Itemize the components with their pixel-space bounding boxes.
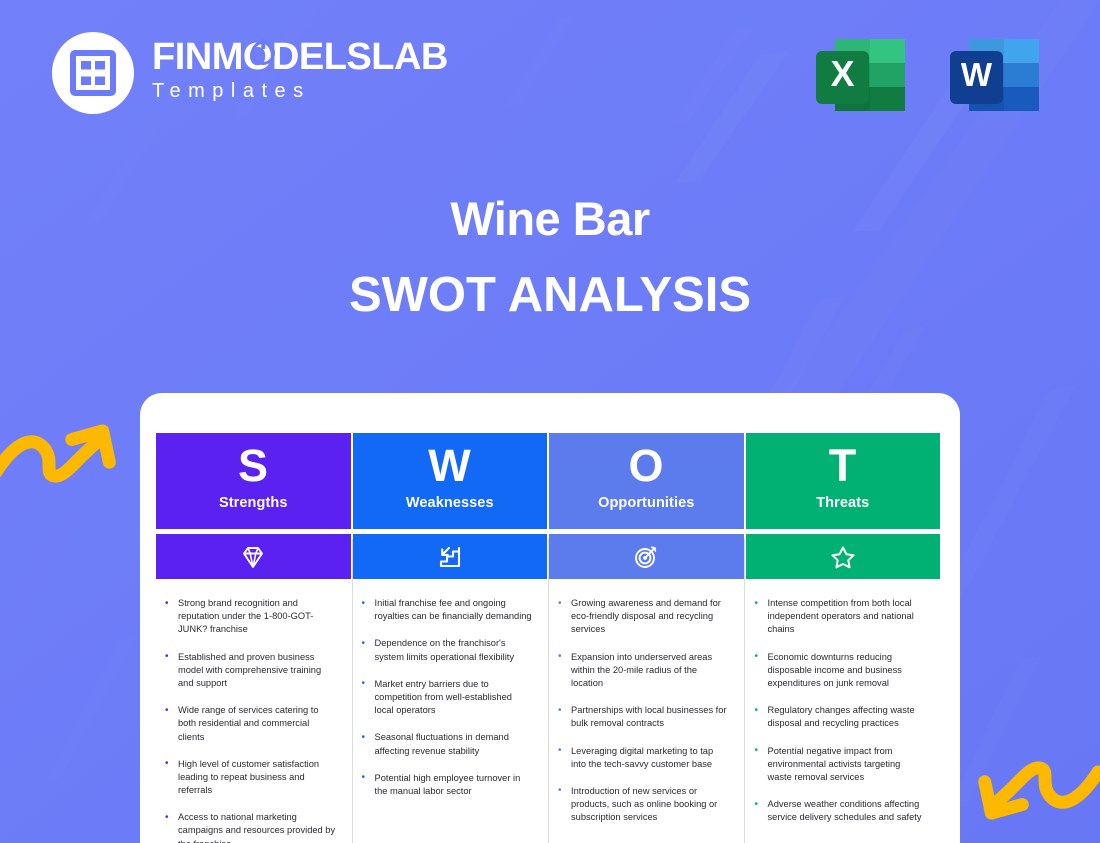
column-icon-bar-threats xyxy=(746,534,941,579)
squiggly-arrow-down-left-icon xyxy=(968,748,1100,840)
swot-grid: S Strengths Strong brand recognition and… xyxy=(156,433,940,843)
list-item: Adverse weather conditions affecting ser… xyxy=(754,798,927,824)
page-header: FINMODELSLAB Templates X W xyxy=(0,0,1100,150)
page-title: Wine Bar xyxy=(0,195,1100,242)
list-item: Potential high employee turnover in the … xyxy=(361,772,534,798)
column-header-strengths: S Strengths xyxy=(156,433,351,529)
list-item: Wide range of services catering to both … xyxy=(164,704,337,744)
svg-text:X: X xyxy=(830,53,854,94)
column-letter: O xyxy=(628,443,664,488)
column-label: Opportunities xyxy=(598,495,694,511)
target-icon xyxy=(632,543,660,571)
list-item: Market entry barriers due to competition… xyxy=(361,678,534,718)
brand-text: FINMODELSLAB Templates xyxy=(152,38,448,108)
list-item: Expansion into underserved areas within … xyxy=(557,651,730,691)
excel-icon: X xyxy=(810,22,914,126)
bullet-list-strengths: Strong brand recognition and reputation … xyxy=(164,597,337,843)
list-item: Established and proven business model wi… xyxy=(164,651,337,691)
column-label: Strengths xyxy=(219,495,288,511)
list-item: Intense competition from both local inde… xyxy=(754,597,927,637)
diamond-icon xyxy=(239,543,267,571)
title-block: Wine Bar SWOT ANALYSIS xyxy=(0,195,1100,320)
column-header-weaknesses: W Weaknesses xyxy=(353,433,548,529)
brand-logo-mark xyxy=(52,32,134,114)
swot-column-strengths: S Strengths Strong brand recognition and… xyxy=(156,433,351,843)
swot-column-opportunities: O Opportunities Growing awareness and de… xyxy=(549,433,744,843)
brand-subtitle: Templates xyxy=(152,79,448,104)
brand-name: FINMODELSLAB xyxy=(152,38,448,77)
bullet-list-opportunities: Growing awareness and demand for eco-fri… xyxy=(557,597,730,824)
brand-logo: FINMODELSLAB Templates xyxy=(52,32,448,114)
list-item: Economic downturns reducing disposable i… xyxy=(754,651,927,691)
list-item: Introduction of new services or products… xyxy=(557,785,730,825)
list-item: Initial franchise fee and ongoing royalt… xyxy=(361,597,534,623)
brand-name-text: FINMODELSLAB xyxy=(152,36,448,78)
column-label: Threats xyxy=(816,495,869,511)
page-subtitle: SWOT ANALYSIS xyxy=(0,271,1100,320)
list-item: Seasonal fluctuations in demand affectin… xyxy=(361,731,534,757)
squiggly-arrow-up-right-icon xyxy=(0,404,126,496)
grid-squares-icon xyxy=(70,50,116,96)
bullet-list-threats: Intense competition from both local inde… xyxy=(754,597,927,824)
column-label: Weaknesses xyxy=(406,495,494,511)
column-body-opportunities: Growing awareness and demand for eco-fri… xyxy=(549,579,744,838)
column-header-threats: T Threats xyxy=(746,433,941,529)
list-item: Strong brand recognition and reputation … xyxy=(164,597,337,637)
column-letter: T xyxy=(829,443,857,488)
column-body-strengths: Strong brand recognition and reputation … xyxy=(156,579,351,843)
column-icon-bar-opportunities xyxy=(549,534,744,579)
list-item: Potential negative impact from environme… xyxy=(754,745,927,785)
descending-stairs-icon xyxy=(436,543,464,571)
column-letter: W xyxy=(428,443,471,488)
column-icon-bar-strengths xyxy=(156,534,351,579)
list-item: Growing awareness and demand for eco-fri… xyxy=(557,597,730,637)
swot-column-weaknesses: W Weaknesses Initial franchise fee and o… xyxy=(353,433,548,843)
swot-column-threats: T Threats Intense competition from both … xyxy=(746,433,941,843)
column-body-threats: Intense competition from both local inde… xyxy=(746,579,941,838)
power-ring-icon xyxy=(251,41,275,65)
list-item: Partnerships with local businesses for b… xyxy=(557,704,730,730)
list-item: Dependence on the franchisor's system li… xyxy=(361,637,534,663)
star-icon xyxy=(829,543,857,571)
office-icons: X W xyxy=(810,22,1048,126)
list-item: Access to national marketing campaigns a… xyxy=(164,811,337,843)
list-item: Leveraging digital marketing to tap into… xyxy=(557,745,730,771)
list-item: Regulatory changes affecting waste dispo… xyxy=(754,704,927,730)
word-icon: W xyxy=(944,22,1048,126)
column-header-opportunities: O Opportunities xyxy=(549,433,744,529)
column-body-weaknesses: Initial franchise fee and ongoing royalt… xyxy=(353,579,548,829)
bullet-list-weaknesses: Initial franchise fee and ongoing royalt… xyxy=(361,597,534,798)
svg-text:W: W xyxy=(961,56,993,93)
list-item: High level of customer satisfaction lead… xyxy=(164,758,337,798)
column-letter: S xyxy=(238,443,269,488)
column-icon-bar-weaknesses xyxy=(353,534,548,579)
swot-card: S Strengths Strong brand recognition and… xyxy=(140,393,960,843)
